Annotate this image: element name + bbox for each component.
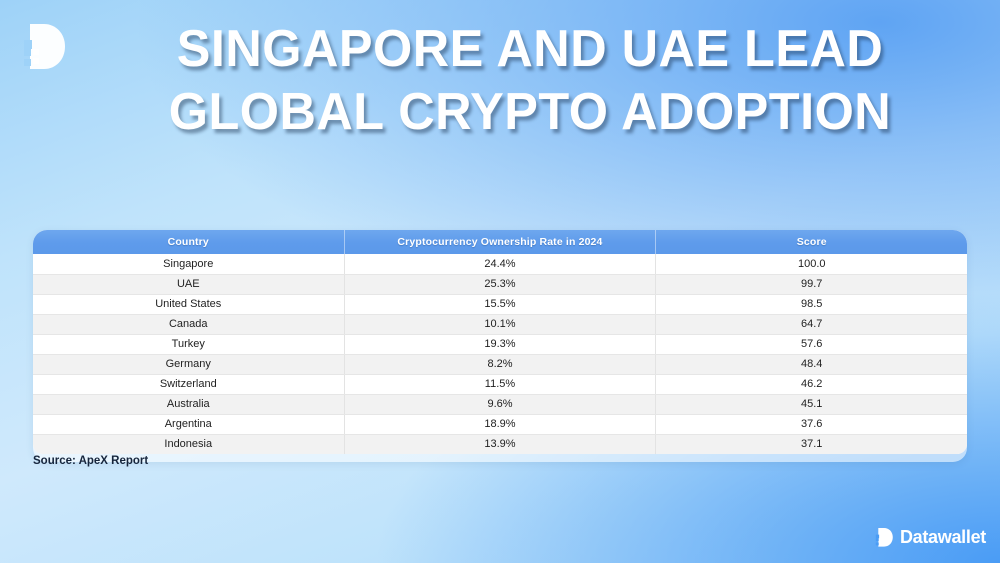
table-header-row: Country Cryptocurrency Ownership Rate in… [33, 230, 967, 254]
cell-score: 37.6 [656, 414, 967, 434]
cell-country: Turkey [33, 334, 344, 354]
cell-score: 98.5 [656, 294, 967, 314]
crypto-adoption-table: Country Cryptocurrency Ownership Rate in… [33, 230, 967, 454]
cell-ownership-rate: 11.5% [344, 374, 656, 394]
cell-country: United States [33, 294, 344, 314]
cell-ownership-rate: 13.9% [344, 434, 656, 454]
table-row: Australia9.6%45.1 [33, 394, 967, 414]
cell-ownership-rate: 9.6% [344, 394, 656, 414]
column-header-country: Country [33, 230, 344, 254]
table-body: Singapore24.4%100.0UAE25.3%99.7United St… [33, 254, 967, 454]
title-line-2: GLOBAL CRYPTO ADOPTION [74, 81, 986, 144]
cell-ownership-rate: 15.5% [344, 294, 656, 314]
cell-score: 57.6 [656, 334, 967, 354]
cell-ownership-rate: 18.9% [344, 414, 656, 434]
table-row: Switzerland11.5%46.2 [33, 374, 967, 394]
cell-ownership-rate: 24.4% [344, 254, 656, 274]
cell-score: 64.7 [656, 314, 967, 334]
title-line-1: SINGAPORE AND UAE LEAD [74, 18, 986, 81]
datawallet-d-logo-icon [875, 527, 894, 548]
page-title: SINGAPORE AND UAE LEAD GLOBAL CRYPTO ADO… [0, 18, 1000, 145]
table-row: UAE25.3%99.7 [33, 274, 967, 294]
cell-score: 48.4 [656, 354, 967, 374]
cell-score: 100.0 [656, 254, 967, 274]
footer-brand: Datawallet [875, 527, 986, 548]
footer-brand-name: Datawallet [900, 527, 986, 548]
infographic-canvas: SINGAPORE AND UAE LEAD GLOBAL CRYPTO ADO… [0, 0, 1000, 563]
cell-score: 37.1 [656, 434, 967, 454]
cell-score: 45.1 [656, 394, 967, 414]
table-row: Argentina18.9%37.6 [33, 414, 967, 434]
cell-score: 46.2 [656, 374, 967, 394]
cell-country: Singapore [33, 254, 344, 274]
table-row: United States15.5%98.5 [33, 294, 967, 314]
table-row: Indonesia13.9%37.1 [33, 434, 967, 454]
cell-country: Australia [33, 394, 344, 414]
data-table-card: Country Cryptocurrency Ownership Rate in… [33, 230, 967, 462]
cell-country: Argentina [33, 414, 344, 434]
cell-country: Indonesia [33, 434, 344, 454]
cell-ownership-rate: 8.2% [344, 354, 656, 374]
cell-ownership-rate: 10.1% [344, 314, 656, 334]
cell-country: Switzerland [33, 374, 344, 394]
cell-country: Canada [33, 314, 344, 334]
cell-country: UAE [33, 274, 344, 294]
table-row: Singapore24.4%100.0 [33, 254, 967, 274]
cell-ownership-rate: 25.3% [344, 274, 656, 294]
cell-country: Germany [33, 354, 344, 374]
column-header-score: Score [656, 230, 967, 254]
table-row: Germany8.2%48.4 [33, 354, 967, 374]
cell-score: 99.7 [656, 274, 967, 294]
table-row: Canada10.1%64.7 [33, 314, 967, 334]
cell-ownership-rate: 19.3% [344, 334, 656, 354]
column-header-ownership-rate: Cryptocurrency Ownership Rate in 2024 [344, 230, 656, 254]
table-row: Turkey19.3%57.6 [33, 334, 967, 354]
source-caption: Source: ApeX Report [33, 455, 148, 467]
